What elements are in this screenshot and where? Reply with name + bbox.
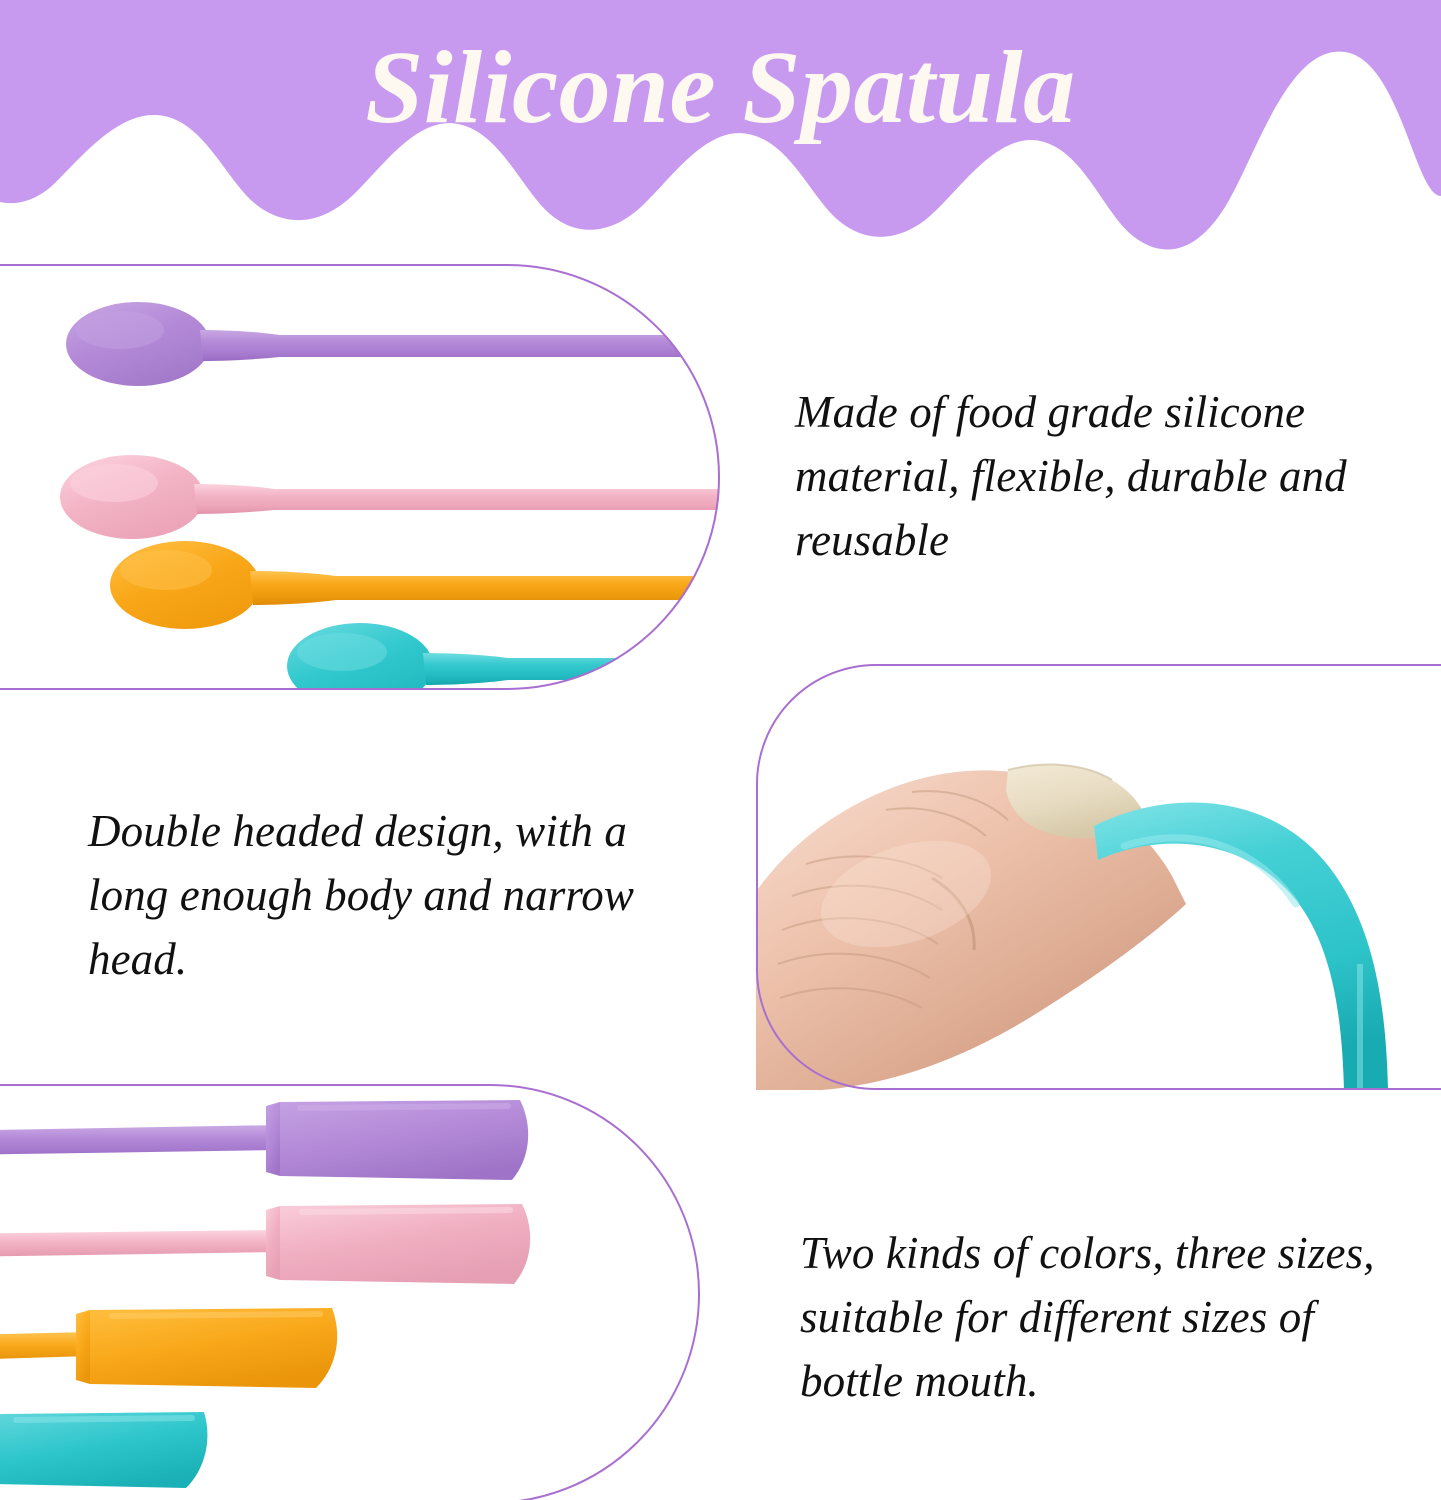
flat-spatula-purple bbox=[0, 1100, 528, 1180]
spoon-end-spatulas-artwork bbox=[0, 264, 720, 690]
bent-teal-spatula bbox=[1094, 802, 1388, 1090]
infographic-page: Silicone Spatula bbox=[0, 0, 1441, 1500]
spoon-spatula-teal bbox=[287, 623, 720, 690]
page-title: Silicone Spatula bbox=[0, 28, 1441, 148]
header-banner: Silicone Spatula bbox=[0, 0, 1441, 258]
spoon-spatula-orange bbox=[110, 541, 720, 629]
feature-text-colors: Two kinds of colors, three sizes, suitab… bbox=[800, 1222, 1390, 1414]
flat-spatula-pink bbox=[0, 1204, 530, 1284]
flexibility-photo-artwork bbox=[756, 664, 1441, 1090]
flat-spatula-teal bbox=[0, 1412, 207, 1488]
flat-spatula-orange bbox=[0, 1308, 337, 1388]
flat-end-spatulas-artwork bbox=[0, 1084, 700, 1500]
spoon-spatula-pink bbox=[60, 455, 720, 539]
feature-text-material: Made of food grade silicone material, fl… bbox=[795, 381, 1395, 573]
spoon-spatula-purple bbox=[66, 302, 720, 386]
feature-text-design: Double headed design, with a long enough… bbox=[88, 800, 688, 992]
thumb-photo bbox=[756, 765, 1186, 1090]
